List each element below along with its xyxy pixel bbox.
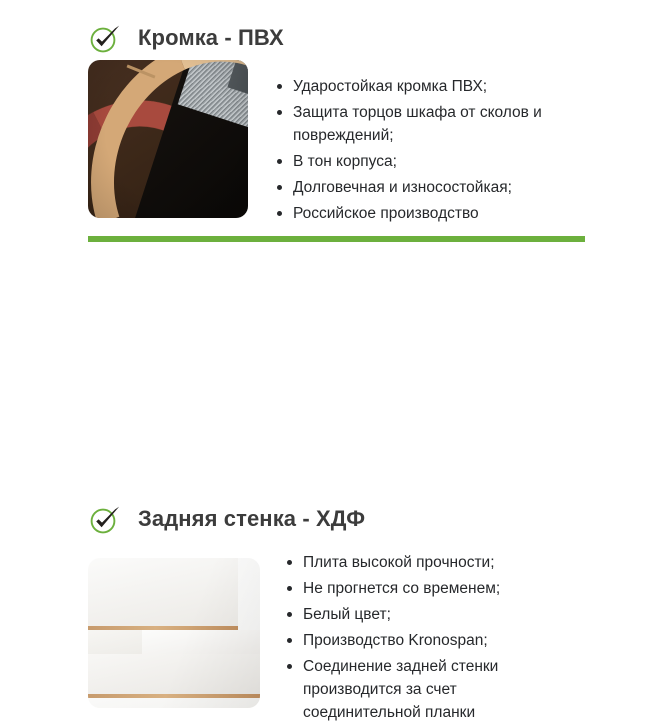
section-back-panel: Задняя стенка - ХДФ Плита высокой прочно… <box>0 248 652 500</box>
section-title: Задняя стенка - ХДФ <box>138 508 365 530</box>
photo-shade <box>88 558 260 708</box>
list-item: Ударостойкая кромка ПВХ; <box>276 75 576 98</box>
list-item: Долговечная и износостойкая; <box>276 176 576 199</box>
section-heading-back-panel: Задняя стенка - ХДФ <box>88 501 365 537</box>
list-item: В тон корпуса; <box>276 150 576 173</box>
section-edge-banding: Кромка - ПВХ Ударостойкая кромка ПВХ; За… <box>0 0 652 232</box>
hdf-back-panel-photo <box>88 558 260 708</box>
section-heading-edge-banding: Кромка - ПВХ <box>88 20 284 56</box>
list-item: Белый цвет; <box>286 603 576 626</box>
list-item: Плита высокой прочности; <box>286 551 576 574</box>
list-item: Соединение задней стенки производится за… <box>286 655 576 724</box>
check-circle-icon <box>88 20 124 56</box>
list-item: Защита торцов шкафа от сколов и поврежде… <box>276 101 576 147</box>
green-divider <box>88 236 585 242</box>
pvc-edge-banding-photo <box>88 60 248 218</box>
page-root: Кромка - ПВХ Ударостойкая кромка ПВХ; За… <box>0 0 652 500</box>
list-item: Производство Kronospan; <box>286 629 576 652</box>
section-title: Кромка - ПВХ <box>138 27 284 49</box>
photo-vignette <box>88 60 248 218</box>
feature-list-back-panel: Плита высокой прочности; Не прогнется со… <box>286 551 576 727</box>
feature-list-edge-banding: Ударостойкая кромка ПВХ; Защита торцов ш… <box>276 75 576 228</box>
check-circle-icon <box>88 501 124 537</box>
list-item: Российское производство <box>276 202 576 225</box>
list-item: Не прогнется со временем; <box>286 577 576 600</box>
